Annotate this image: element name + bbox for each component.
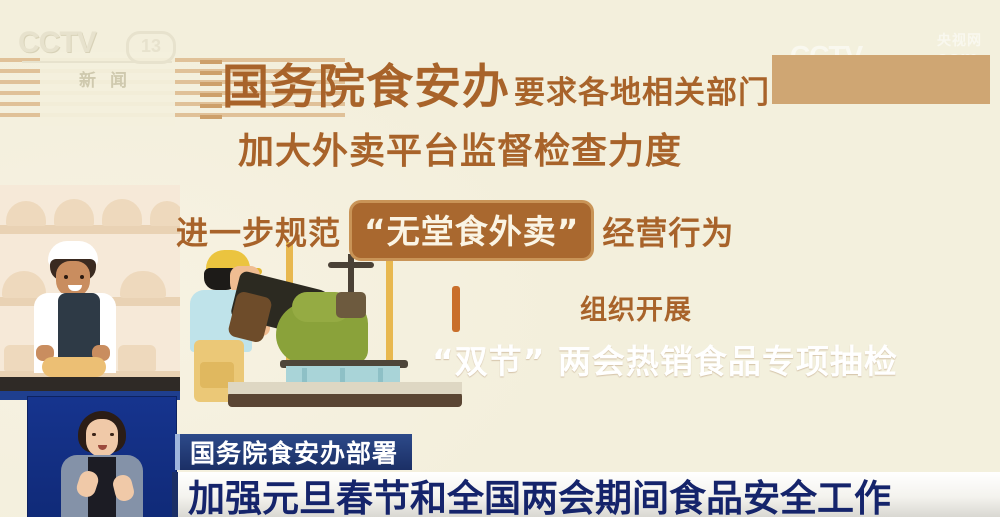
pipe-accent — [452, 286, 460, 332]
machine-head — [336, 292, 366, 318]
logo-underline — [22, 61, 172, 63]
sign-language-interpreter-inset — [27, 396, 177, 517]
headline-line-2: 加大外卖平台监督检查力度 — [238, 122, 682, 174]
headline-line-4: 组织开展 — [580, 288, 692, 327]
channel-number-badge: 13 — [126, 31, 176, 64]
broadcast-news-frame: CCTV 13 新闻 CCTV 央视网 com — [0, 0, 1000, 517]
cctv13-channel-logo: CCTV 13 新闻 — [18, 28, 178, 90]
headline-line1-rest: 要求各地相关部门 — [514, 67, 770, 112]
headline-agency: 国务院食安办 — [222, 48, 510, 117]
headline-line4-text: 组织开展 — [580, 295, 692, 326]
lower-third-kicker-text: 国务院食安办部署 — [190, 434, 398, 470]
interpreter-face — [86, 419, 118, 457]
lower-third-headline-text: 加强元旦春节和全国两会期间食品安全工作 — [178, 468, 891, 517]
highlight-pill-no-dine-in-delivery: “无堂食外卖” — [349, 200, 594, 261]
bakery-illustration — [0, 185, 180, 400]
channel-name-label: 新闻 — [48, 66, 158, 91]
machine-crossbar — [328, 262, 374, 268]
baker-face — [56, 261, 90, 297]
decorative-stripes-accent — [200, 58, 222, 120]
headline-line3-suffix: 经营行为 — [602, 208, 734, 254]
campaign-banner-text: “双节” 两会热销食品专项抽检 — [414, 335, 898, 383]
dough — [42, 357, 106, 377]
headline-line2-text: 加大外卖平台监督检查力度 — [238, 131, 682, 172]
conveyor — [228, 392, 462, 407]
lower-third-headline-bar: 加强元旦春节和全国两会期间食品安全工作 — [172, 472, 1000, 517]
campaign-banner: “双节” 两会热销食品专项抽检 — [414, 330, 952, 387]
lower-third-kicker: 国务院食安办部署 — [175, 434, 412, 470]
headline-line3-prefix: 进一步规范 — [176, 208, 341, 254]
watermark-chinese-text: 央视网 — [937, 30, 982, 50]
headline-line-3: 进一步规范 “无堂食外卖” 经营行为 — [176, 200, 734, 261]
tan-accent-block — [772, 55, 990, 104]
headline-line-1: 国务院食安办 要求各地相关部门 — [222, 48, 770, 117]
